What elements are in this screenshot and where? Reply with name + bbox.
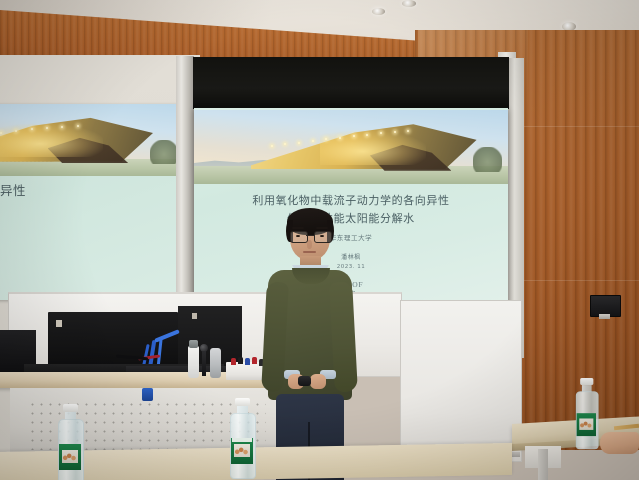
bottle-label-graphic — [62, 450, 78, 463]
whiteboard-right — [400, 300, 522, 462]
wall-panel-mount — [599, 314, 610, 319]
hero-tree — [473, 147, 501, 172]
screen-roller-housing — [193, 57, 509, 109]
presenter — [262, 212, 358, 480]
presenter-brow-left — [292, 227, 304, 229]
bottle-label-stripe — [232, 438, 252, 442]
bottle-cap — [63, 404, 78, 412]
presenter-nose — [307, 240, 312, 249]
marker-blue — [245, 358, 250, 365]
slide-left-title-line1: 动力学的各向异性 — [0, 182, 180, 201]
hero-facade-lights — [263, 128, 458, 150]
audience-hand — [600, 432, 639, 454]
lecture-room-photo: 动力学的各向异性 阳能分解水 大学 TY OF DGE — [0, 0, 639, 480]
presenter-eye-right — [320, 235, 324, 237]
downlight-icon — [372, 8, 385, 15]
av-cabinet-label — [56, 320, 62, 327]
vga-connector — [142, 388, 153, 401]
slide-left-title-line2: 阳能分解水 — [0, 202, 180, 221]
water-bottle — [228, 398, 256, 478]
slide-hero-image — [194, 110, 508, 184]
remote-control — [210, 348, 221, 378]
presenter-hand-right — [310, 374, 326, 389]
water-bottle — [574, 378, 599, 448]
presenter-eye-left — [296, 235, 300, 237]
microphone-body — [202, 351, 206, 376]
bottle-cap — [580, 378, 593, 385]
spray-bottle-nozzle — [189, 340, 198, 348]
bottle-label-graphic — [579, 418, 593, 429]
downlight-icon — [402, 0, 416, 7]
marker-red-2 — [252, 357, 257, 364]
bottle-cap — [235, 398, 250, 406]
marker-red — [231, 358, 236, 365]
glasses-lens-right — [314, 231, 332, 243]
slide-title-line1: 利用氧化物中载流子动力学的各向异性 — [194, 192, 508, 210]
water-bottle — [56, 404, 84, 480]
slide-hero-image-left — [0, 104, 180, 176]
glasses-lens-left — [290, 231, 308, 243]
marker-black — [238, 357, 243, 364]
av-cabinet-label-2 — [192, 313, 197, 319]
glasses-bridge — [306, 235, 314, 236]
presenter-brow-right — [316, 227, 328, 229]
right-desk-leg — [538, 449, 548, 480]
spray-bottle — [188, 346, 199, 378]
projection-screen-left: 动力学的各向异性 阳能分解水 大学 TY OF DGE — [0, 104, 180, 300]
bottle-label-graphic — [234, 444, 250, 457]
presentation-clicker — [298, 376, 311, 386]
